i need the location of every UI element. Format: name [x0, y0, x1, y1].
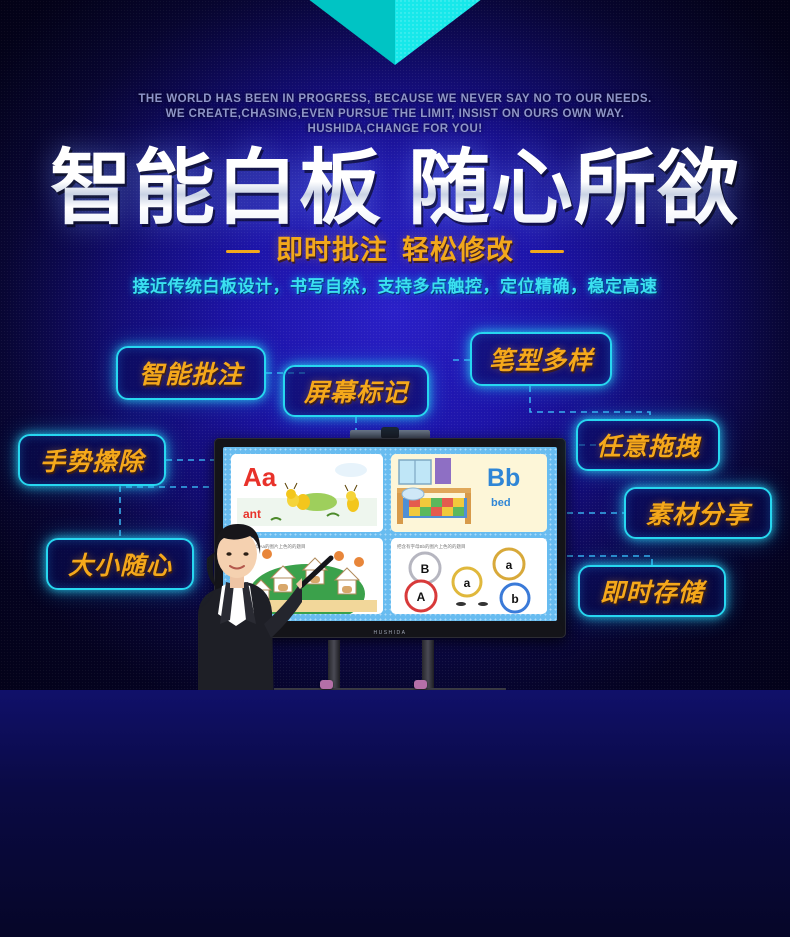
- feature-chip-pingmu-biaoji[interactable]: 屏幕标记: [283, 365, 429, 417]
- feature-chip-label: 屏幕标记: [304, 373, 408, 409]
- classroom-students-audience: [0, 690, 790, 937]
- svg-text:ant: ant: [243, 507, 261, 521]
- stand-knob-right: [414, 680, 427, 689]
- feature-chip-label: 笔型多样: [489, 341, 593, 377]
- feature-chip-label: 手势擦除: [40, 442, 144, 478]
- list-item[interactable]: Bb bed: [391, 454, 547, 532]
- svg-text:把含有字母Bb的图片上色的的题目: 把含有字母Bb的图片上色的的题目: [397, 543, 466, 550]
- svg-text:b: b: [511, 592, 518, 606]
- list-item[interactable]: 把含有字母Bb的图片上色的的题目 B a a A: [391, 538, 547, 614]
- svg-text:bed: bed: [491, 497, 511, 509]
- feature-chip-sucai-fenxiang[interactable]: 素材分享: [624, 487, 772, 539]
- feature-chip-bixing-duoyang[interactable]: 笔型多样: [470, 332, 612, 386]
- feature-chip-jishi-cunchu[interactable]: 即时存储: [578, 565, 726, 617]
- svg-text:A: A: [417, 590, 426, 604]
- feature-chip-label: 素材分享: [646, 495, 750, 531]
- svg-text:a: a: [506, 558, 513, 572]
- svg-text:Aa: Aa: [243, 462, 277, 492]
- feature-chip-label: 智能批注: [139, 355, 243, 391]
- feature-chip-label: 大小随心: [68, 546, 172, 582]
- feature-chip-renyi-tuozhuai[interactable]: 任意拖拽: [576, 419, 720, 471]
- svg-text:Bb: Bb: [487, 464, 520, 492]
- promo-page: THE WORLD HAS BEEN IN PROGRESS, BECAUSE …: [0, 0, 790, 937]
- svg-text:a: a: [464, 576, 471, 590]
- feature-chip-zhineng-pizhu[interactable]: 智能批注: [116, 346, 266, 400]
- feature-chip-shoushi-cachu[interactable]: 手势擦除: [18, 434, 166, 486]
- stand-knob-left: [320, 680, 333, 689]
- feature-chip-daxiao-suixin[interactable]: 大小随心: [46, 538, 194, 590]
- svg-text:B: B: [421, 562, 430, 576]
- feature-chip-label: 即时存储: [600, 573, 704, 609]
- feature-chip-label: 任意拖拽: [596, 427, 700, 463]
- audience-backdrop: [0, 690, 790, 937]
